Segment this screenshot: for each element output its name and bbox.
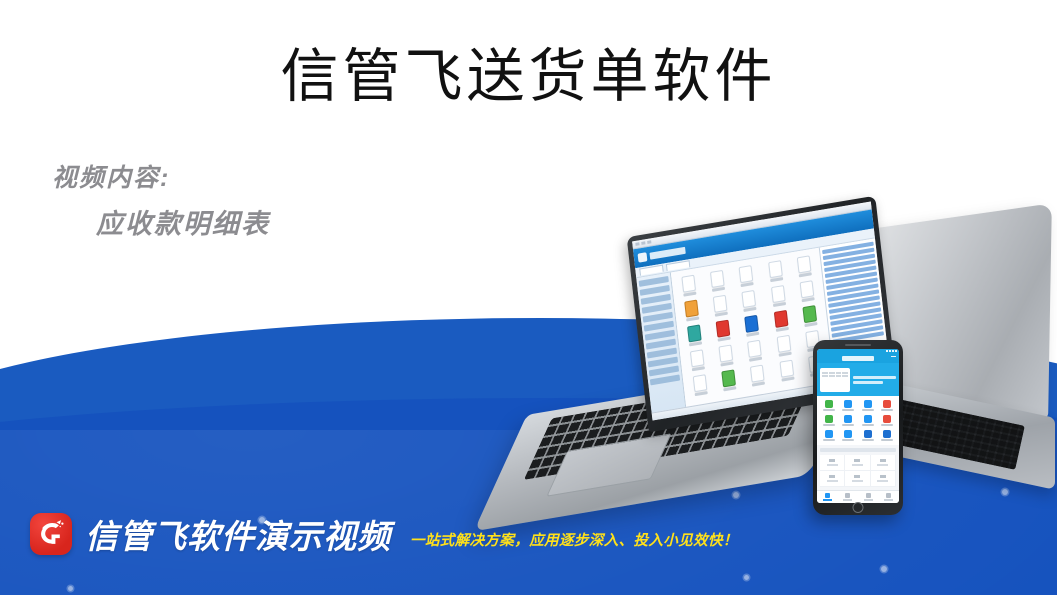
video-content-label: 视频内容:	[52, 160, 270, 198]
app-module-icon	[684, 348, 711, 372]
app-module-icon	[773, 359, 800, 383]
smartphone	[813, 340, 903, 515]
app-module-icon	[713, 343, 740, 367]
mobile-function-icon	[840, 415, 858, 426]
app-icon-grid	[675, 254, 829, 397]
mobile-app-screen	[817, 349, 899, 503]
nav-item-home	[817, 491, 838, 503]
app-module-icon	[742, 339, 769, 363]
app-module-icon	[799, 329, 826, 353]
app-sidebar	[636, 272, 686, 412]
app-module-icon	[681, 323, 708, 347]
promo-card-text	[853, 376, 896, 384]
app-module-icon	[687, 373, 714, 397]
app-module-icon	[739, 314, 766, 338]
app-module-icon	[765, 284, 792, 308]
front-laptop-display	[627, 196, 898, 433]
mobile-function-grid	[817, 396, 899, 445]
app-module-icon	[796, 304, 823, 328]
mobile-app-title	[842, 356, 874, 361]
app-tab-strip	[635, 228, 875, 278]
app-module-icon	[768, 309, 795, 333]
app-module-icon	[704, 269, 731, 293]
app-window-titlebar	[632, 202, 872, 250]
rear-laptop-base	[840, 372, 1055, 490]
app-logo-icon	[638, 246, 686, 263]
decor-dot	[1002, 489, 1008, 495]
app-module-icon	[791, 254, 818, 278]
rear-laptop-lid	[843, 203, 1052, 447]
desktop-app-screen	[632, 202, 891, 421]
brand-name: 信管飞软件演示视频	[85, 510, 391, 558]
nav-item-documents	[838, 491, 859, 503]
app-module-canvas	[671, 248, 834, 407]
app-module-icon	[802, 354, 829, 378]
page-title: 信管飞送货单软件	[0, 48, 1057, 106]
decor-dot	[733, 492, 739, 498]
front-laptop-keyboard	[524, 374, 816, 480]
mobile-app-header	[817, 353, 899, 363]
mobile-function-icon	[879, 400, 897, 411]
mobile-function-icon	[879, 415, 897, 426]
mobile-function-icon	[820, 430, 838, 441]
app-module-icon	[678, 299, 705, 323]
app-toolbar	[633, 209, 874, 268]
mobile-function-icon	[820, 400, 838, 411]
decor-dot	[68, 586, 73, 591]
mobile-function-icon	[840, 430, 858, 441]
app-module-icon	[716, 368, 743, 392]
app-module-icon	[770, 334, 797, 358]
app-module-icon	[707, 294, 734, 318]
stats-section-header	[820, 448, 896, 452]
brand-tagline: 一站式解决方案，应用逐步深入、投入小见效快！	[410, 529, 738, 550]
mobile-function-icon	[840, 400, 858, 411]
decor-dot	[744, 575, 749, 580]
app-module-icon	[675, 274, 702, 298]
hamburger-menu-icon	[891, 356, 896, 361]
app-module-icon	[793, 279, 820, 303]
rear-laptop-keyboard	[875, 396, 1025, 470]
phone-status-bar	[817, 349, 899, 353]
app-status-bar	[652, 373, 892, 421]
nav-item-reports	[858, 491, 879, 503]
app-module-icon	[762, 259, 789, 283]
app-module-icon	[736, 289, 763, 313]
laptop-bezel	[627, 196, 898, 433]
decor-dot	[881, 566, 887, 572]
slide-canvas: 信管飞送货单软件 视频内容: 应收款明细表	[0, 0, 1057, 595]
video-content-topic: 应收款明细表	[96, 204, 270, 245]
mobile-stats-section	[817, 445, 899, 490]
mobile-function-icon	[859, 415, 877, 426]
front-laptop-trackpad	[546, 433, 672, 497]
mobile-promo-banner	[817, 363, 899, 396]
brand-bar: 信管飞软件演示视频 一站式解决方案，应用逐步深入、投入小见效快！	[0, 506, 1057, 562]
background-wave-front	[0, 398, 1057, 595]
app-body	[636, 238, 890, 412]
app-module-icon	[710, 319, 737, 343]
video-content-block: 视频内容: 应收款明细表	[52, 160, 270, 244]
app-right-panel	[819, 238, 891, 382]
nav-item-profile	[879, 491, 900, 503]
mobile-function-icon	[879, 430, 897, 441]
mobile-function-icon	[859, 400, 877, 411]
stats-grid	[820, 455, 896, 487]
phone-earpiece	[845, 344, 871, 346]
app-module-icon	[744, 363, 771, 387]
promo-card-image	[820, 368, 850, 392]
xinguanfei-logo-icon	[30, 513, 72, 555]
mobile-bottom-nav	[817, 490, 899, 503]
mobile-function-icon	[820, 415, 838, 426]
mobile-function-icon	[859, 430, 877, 441]
app-module-icon	[733, 264, 760, 288]
